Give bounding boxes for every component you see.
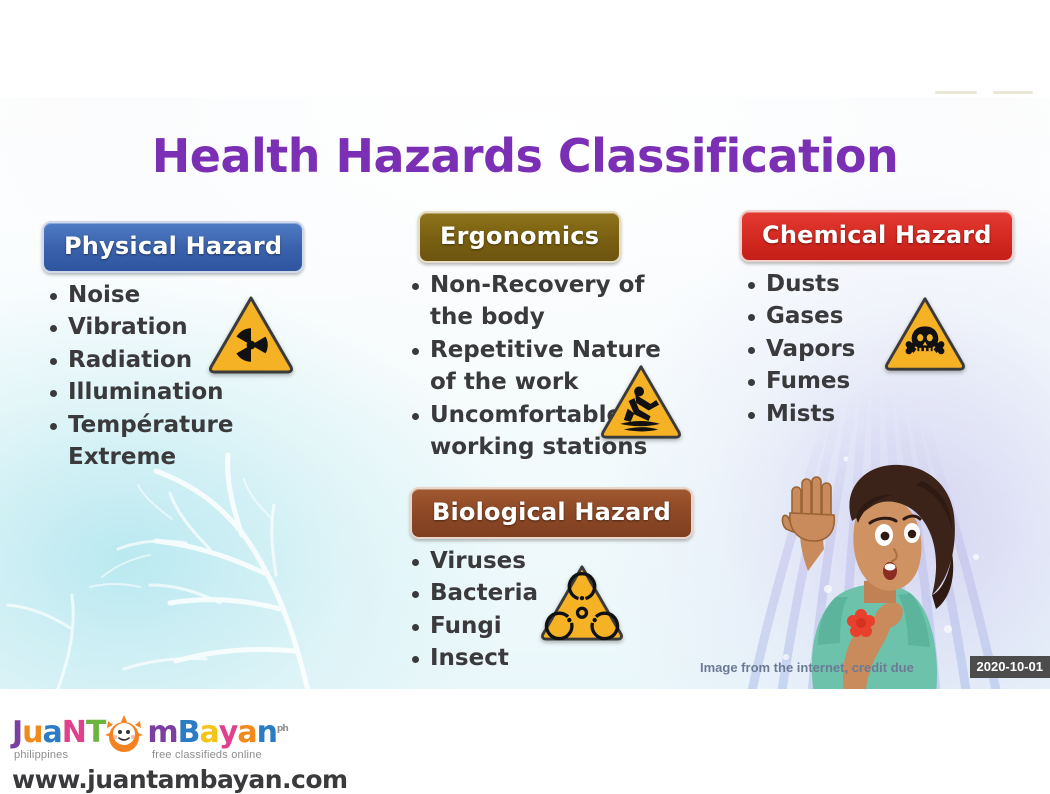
worried-woman-cartoon (744, 445, 994, 689)
logo-letter: N (62, 718, 86, 748)
logo-wordmark: JuaNTmBayanph (12, 718, 348, 748)
top-right-mark-2 (993, 91, 1033, 94)
timestamp-badge: 2020-10-01 (970, 656, 1050, 678)
screenshot-root: Health Hazards Classification Physical H… (0, 0, 1050, 788)
list-item: Dusts (740, 270, 1014, 299)
logo-letter: a (200, 718, 219, 748)
logo-letter: n (257, 718, 277, 748)
list-item: Mists (740, 400, 1014, 429)
skull-crossbones-warning-icon (884, 294, 966, 372)
logo-letter: J (12, 718, 22, 748)
page-title: Health Hazards Classification (0, 129, 1050, 183)
logo-letter: y (219, 718, 238, 748)
card-header-physical: Physical Hazard (42, 221, 304, 273)
logo-letter: a (237, 718, 256, 748)
list-item: Illumination (42, 378, 304, 407)
logo-trademark: ph (277, 725, 288, 734)
tagline-philippines: philippines (14, 749, 68, 761)
logo-letter: m (147, 718, 177, 748)
tagline-free-classifieds: free classifieds online (152, 749, 262, 761)
slide-image: Health Hazards Classification Physical H… (0, 97, 1050, 689)
list-item-continuation: Extreme (42, 443, 304, 472)
list-item-continuation: the body (404, 303, 661, 332)
list-item: Vapors (740, 335, 1014, 364)
footer: JuaNTmBayanph (0, 689, 1050, 788)
list-item: Fumes (740, 367, 1014, 396)
logo-taglines: philippines free classifieds online (12, 749, 348, 762)
radiation-warning-icon (208, 293, 294, 375)
card-header-ergonomics: Ergonomics (418, 211, 621, 263)
card-header-biological: Biological Hazard (410, 487, 693, 539)
card-chemical-hazard: Chemical Hazard Dusts Gases Vapors Fumes… (740, 210, 1014, 432)
logo-letter: B (178, 718, 200, 748)
list-item: Repetitive Nature (404, 336, 661, 365)
list-item: Température (42, 411, 304, 440)
card-list-chemical: Dusts Gases Vapors Fumes Mists (740, 270, 1014, 429)
logo-letter: a (43, 718, 62, 748)
logo-letter: u (22, 718, 42, 748)
biohazard-warning-icon (540, 562, 624, 642)
list-item: Non-Recovery of (404, 271, 661, 300)
top-right-mark-1 (935, 91, 977, 94)
logo-url[interactable]: www.juantambayan.com (12, 765, 348, 794)
list-item: Insect (404, 644, 680, 673)
card-header-chemical: Chemical Hazard (740, 210, 1014, 262)
list-item: Gases (740, 302, 1014, 331)
juantambayan-logo[interactable]: JuaNTmBayanph (12, 718, 348, 794)
slip-fall-warning-icon (600, 362, 682, 440)
